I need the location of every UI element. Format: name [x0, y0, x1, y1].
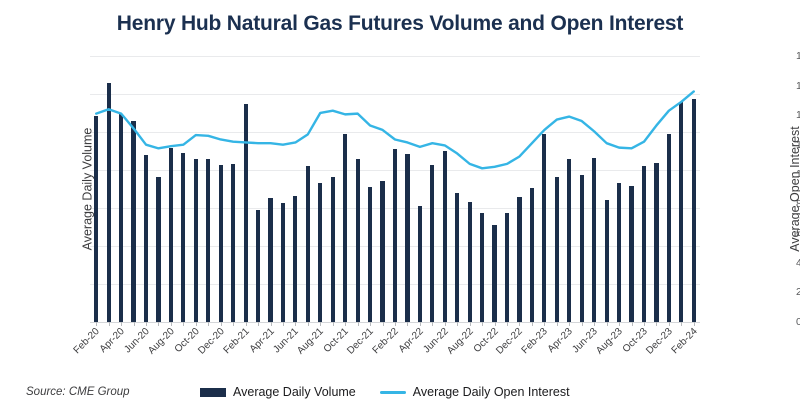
x-axis-tick-label: Apr-21 — [247, 326, 276, 355]
x-axis-tick-mark — [420, 322, 421, 326]
x-axis-tick-mark — [594, 322, 595, 326]
x-axis-tick-label: Dec-23 — [644, 326, 675, 357]
chart-title: Henry Hub Natural Gas Futures Volume and… — [0, 12, 800, 36]
y-axis-left-label: Average Daily Volume — [80, 128, 94, 251]
x-axis-tick-mark — [320, 322, 321, 326]
x-axis-tick-mark — [295, 322, 296, 326]
x-axis-tick-mark — [308, 322, 309, 326]
x-axis-tick-mark — [158, 322, 159, 326]
x-axis-tick-label: Apr-23 — [546, 326, 575, 355]
x-axis-tick-mark — [632, 322, 633, 326]
x-axis-tick-label: Dec-20 — [196, 326, 227, 357]
legend-swatch-line-icon — [380, 391, 406, 394]
x-axis-tick-mark — [345, 322, 346, 326]
x-axis-tick-mark — [432, 322, 433, 326]
x-axis-tick-mark — [395, 322, 396, 326]
x-axis-tick-mark — [495, 322, 496, 326]
x-axis-tick-label: Feb-22 — [371, 326, 401, 356]
x-axis-tick-label: Dec-21 — [345, 326, 376, 357]
x-axis-tick-label: Apr-20 — [98, 326, 127, 355]
source-note: Source: CME Group — [26, 386, 130, 398]
open-interest-polyline — [96, 91, 694, 168]
x-axis-tick-mark — [333, 322, 334, 326]
x-axis-tick-mark — [283, 322, 284, 326]
x-axis-tick-mark — [669, 322, 670, 326]
x-axis-tick-mark — [383, 322, 384, 326]
x-axis-tick-label: Feb-23 — [520, 326, 550, 356]
legend-item[interactable]: Average Daily Open Interest — [380, 385, 570, 399]
x-axis-tick-mark — [619, 322, 620, 326]
x-axis-tick-label: Dec-22 — [495, 326, 526, 357]
x-axis-tick-mark — [208, 322, 209, 326]
x-axis-tick-label: Feb-20 — [72, 326, 102, 356]
x-axis-tick-mark — [569, 322, 570, 326]
legend-label: Average Daily Open Interest — [413, 385, 570, 399]
x-axis-tick-mark — [96, 322, 97, 326]
x-axis-tick-mark — [582, 322, 583, 326]
x-axis-tick-mark — [358, 322, 359, 326]
x-axis-tick-label: Aug-22 — [445, 326, 476, 357]
x-axis-tick-mark — [109, 322, 110, 326]
x-axis-tick-mark — [370, 322, 371, 326]
y-axis-right-tick-label: 1,800,000 — [796, 50, 800, 62]
x-axis-tick-mark — [482, 322, 483, 326]
x-axis-tick-mark — [146, 322, 147, 326]
x-axis-tick-label: Feb-24 — [669, 326, 699, 356]
x-axis-tick-label: Jun-20 — [122, 326, 151, 355]
chart-legend: Average Daily VolumeAverage Daily Open I… — [200, 385, 570, 399]
x-axis-tick-mark — [470, 322, 471, 326]
x-axis-tick-mark — [196, 322, 197, 326]
legend-label: Average Daily Volume — [233, 385, 356, 399]
x-axis-tick-mark — [407, 322, 408, 326]
x-axis-tick-mark — [258, 322, 259, 326]
y-axis-right-tick-label: 1,400,000 — [796, 109, 800, 121]
x-axis-tick-mark — [656, 322, 657, 326]
x-axis-tick-label: Jun-22 — [421, 326, 450, 355]
plot-area: 700,000600,000500,000400,000300,000200,0… — [90, 56, 700, 322]
x-axis-tick-mark — [183, 322, 184, 326]
x-axis-tick-mark — [694, 322, 695, 326]
line-series — [90, 56, 700, 322]
y-axis-right-tick-label: 1,600,000 — [796, 80, 800, 92]
x-axis-tick-mark — [519, 322, 520, 326]
x-axis-tick-mark — [246, 322, 247, 326]
x-axis-tick-mark — [644, 322, 645, 326]
x-axis-tick-label: Feb-21 — [221, 326, 251, 356]
x-axis-tick-mark — [507, 322, 508, 326]
x-axis-tick-label: Aug-23 — [594, 326, 625, 357]
x-axis-tick-mark — [271, 322, 272, 326]
x-axis-tick-mark — [557, 322, 558, 326]
legend-swatch-bar-icon — [200, 388, 226, 397]
y-axis-right-label: Average Open Interest — [788, 126, 800, 252]
x-axis-tick-label: Aug-20 — [146, 326, 177, 357]
y-axis-right-tick-label: 0 — [796, 316, 800, 328]
x-axis-tick-mark — [233, 322, 234, 326]
chart-container: Henry Hub Natural Gas Futures Volume and… — [0, 0, 800, 419]
x-axis-tick-label: Aug-21 — [295, 326, 326, 357]
x-axis-tick-mark — [121, 322, 122, 326]
x-axis-tick-label: Apr-22 — [397, 326, 426, 355]
y-axis-right-tick-label: 400,000 — [796, 257, 800, 269]
legend-item[interactable]: Average Daily Volume — [200, 385, 356, 399]
y-axis-right-tick-label: 200,000 — [796, 286, 800, 298]
x-axis-tick-mark — [171, 322, 172, 326]
x-axis-tick-mark — [681, 322, 682, 326]
x-axis-tick-mark — [221, 322, 222, 326]
x-axis-tick-mark — [532, 322, 533, 326]
x-axis-tick-mark — [544, 322, 545, 326]
x-axis-tick-mark — [134, 322, 135, 326]
x-axis-tick-mark — [607, 322, 608, 326]
x-axis-tick-mark — [457, 322, 458, 326]
x-axis-tick-mark — [445, 322, 446, 326]
